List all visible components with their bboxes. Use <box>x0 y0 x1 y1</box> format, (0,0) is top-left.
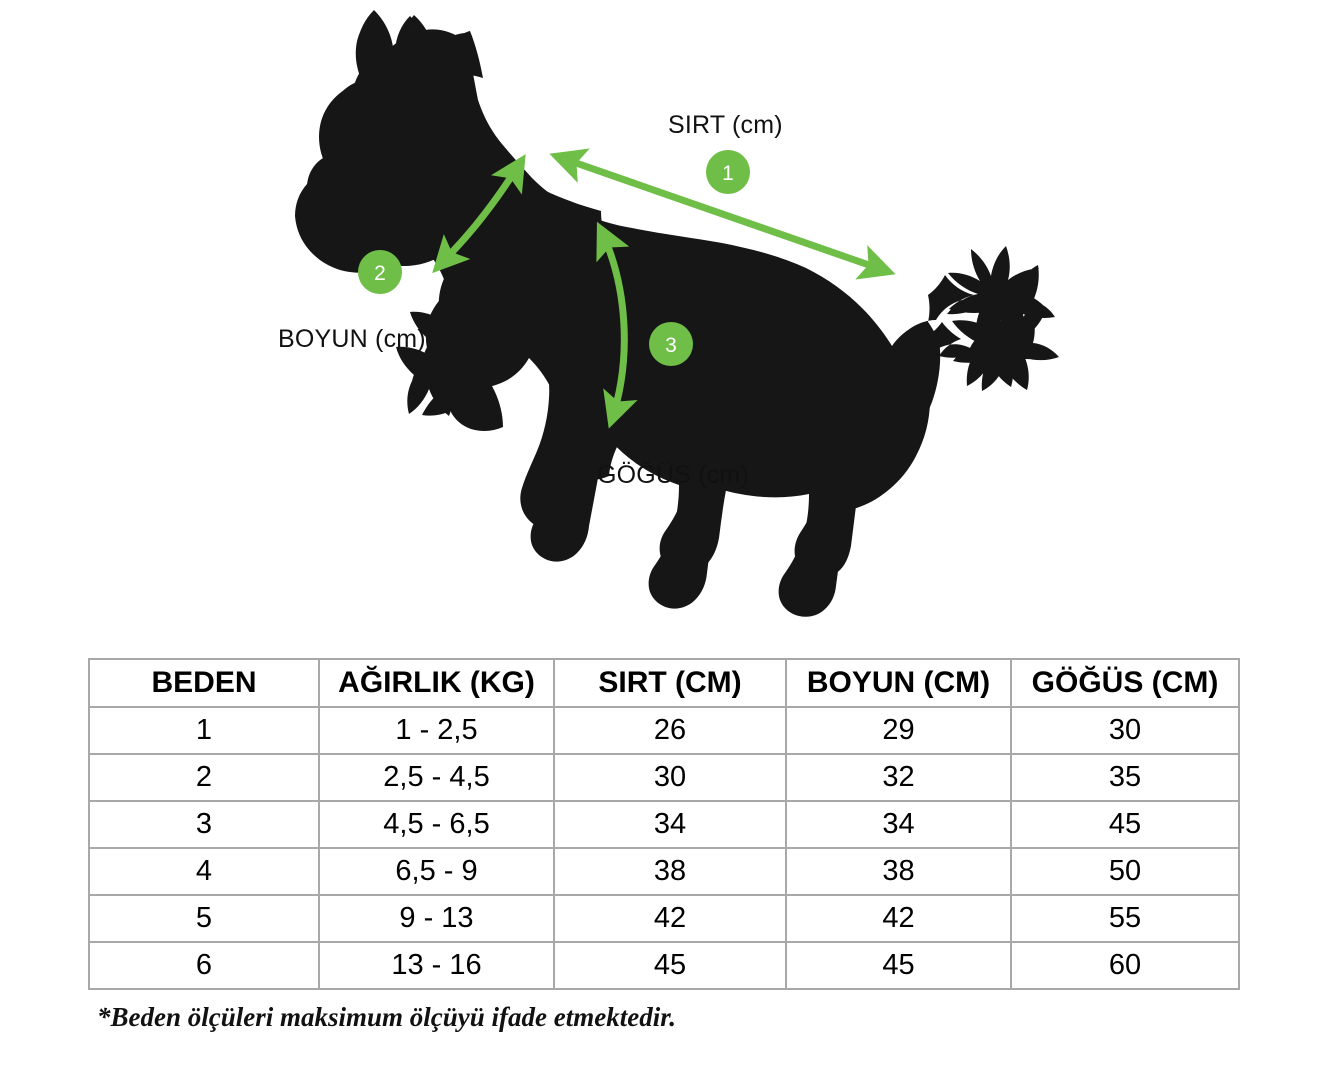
dog-measurement-diagram: 1 2 3 SIRT (cm) BOYUN (cm) GÖĞÜS (cm) <box>0 0 1320 630</box>
cell-beden: 6 <box>89 942 319 989</box>
diagram-svg: 1 2 3 <box>0 0 1320 630</box>
cell-beden: 3 <box>89 801 319 848</box>
cell-boyun: 42 <box>786 895 1011 942</box>
cell-gogus: 35 <box>1011 754 1239 801</box>
cell-beden: 1 <box>89 707 319 754</box>
table-row: 1 1 - 2,5 26 29 30 <box>89 707 1239 754</box>
cell-agirlik: 9 - 13 <box>319 895 554 942</box>
cell-boyun: 45 <box>786 942 1011 989</box>
cell-gogus: 30 <box>1011 707 1239 754</box>
boyun-label: BOYUN (cm) <box>278 325 426 354</box>
cell-agirlik: 6,5 - 9 <box>319 848 554 895</box>
cell-sirt: 26 <box>554 707 786 754</box>
cell-sirt: 38 <box>554 848 786 895</box>
badge-3-number: 3 <box>665 334 677 357</box>
table-header-row: BEDEN AĞIRLIK (KG) SIRT (CM) BOYUN (CM) … <box>89 659 1239 707</box>
size-table-head: BEDEN AĞIRLIK (KG) SIRT (CM) BOYUN (CM) … <box>89 659 1239 707</box>
cell-boyun: 29 <box>786 707 1011 754</box>
cell-sirt: 34 <box>554 801 786 848</box>
cell-gogus: 50 <box>1011 848 1239 895</box>
table-row: 2 2,5 - 4,5 30 32 35 <box>89 754 1239 801</box>
cell-agirlik: 2,5 - 4,5 <box>319 754 554 801</box>
gogus-label: GÖĞÜS (cm) <box>597 461 749 490</box>
cell-gogus: 45 <box>1011 801 1239 848</box>
size-chart-page: 1 2 3 SIRT (cm) BOYUN (cm) GÖĞÜS (cm) BE… <box>0 0 1320 1082</box>
cell-beden: 5 <box>89 895 319 942</box>
cell-boyun: 32 <box>786 754 1011 801</box>
cell-sirt: 45 <box>554 942 786 989</box>
cell-sirt: 42 <box>554 895 786 942</box>
table-row: 4 6,5 - 9 38 38 50 <box>89 848 1239 895</box>
cell-boyun: 38 <box>786 848 1011 895</box>
cell-boyun: 34 <box>786 801 1011 848</box>
badge-1: 1 <box>706 150 750 194</box>
cell-gogus: 55 <box>1011 895 1239 942</box>
column-header-gogus: GÖĞÜS (CM) <box>1011 659 1239 707</box>
size-table-body: 1 1 - 2,5 26 29 30 2 2,5 - 4,5 30 32 35 … <box>89 707 1239 989</box>
footnote-text: *Beden ölçüleri maksimum ölçüyü ifade et… <box>97 1002 676 1033</box>
badge-2: 2 <box>358 250 402 294</box>
cell-agirlik: 13 - 16 <box>319 942 554 989</box>
column-header-agirlik: AĞIRLIK (KG) <box>319 659 554 707</box>
sirt-label: SIRT (cm) <box>668 111 783 140</box>
cell-agirlik: 1 - 2,5 <box>319 707 554 754</box>
size-table: BEDEN AĞIRLIK (KG) SIRT (CM) BOYUN (CM) … <box>88 658 1240 990</box>
cell-beden: 4 <box>89 848 319 895</box>
cell-sirt: 30 <box>554 754 786 801</box>
badge-3: 3 <box>649 322 693 366</box>
table-row: 5 9 - 13 42 42 55 <box>89 895 1239 942</box>
column-header-beden: BEDEN <box>89 659 319 707</box>
badge-1-number: 1 <box>722 162 734 185</box>
size-table-container: BEDEN AĞIRLIK (KG) SIRT (CM) BOYUN (CM) … <box>88 658 1238 990</box>
cell-beden: 2 <box>89 754 319 801</box>
dog-silhouette-final <box>295 10 1059 617</box>
table-row: 3 4,5 - 6,5 34 34 45 <box>89 801 1239 848</box>
cell-agirlik: 4,5 - 6,5 <box>319 801 554 848</box>
cell-gogus: 60 <box>1011 942 1239 989</box>
column-header-boyun: BOYUN (CM) <box>786 659 1011 707</box>
column-header-sirt: SIRT (CM) <box>554 659 786 707</box>
table-row: 6 13 - 16 45 45 60 <box>89 942 1239 989</box>
badge-2-number: 2 <box>374 262 386 285</box>
